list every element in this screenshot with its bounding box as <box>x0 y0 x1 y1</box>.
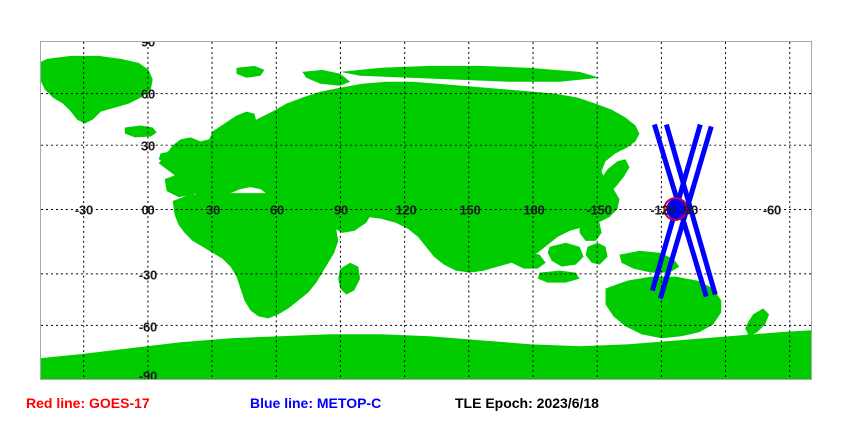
lon-label-m150: -150 <box>586 204 611 217</box>
map-plot-area: 90 60 30 0 -30 -60 -90 -30 0 30 60 90 12… <box>40 41 812 380</box>
lon-label-30: 30 <box>206 204 220 217</box>
legend-tle-epoch: TLE Epoch: 2023/6/18 <box>455 396 599 410</box>
lon-label-m30: -30 <box>75 204 93 217</box>
lon-label-m90: -90 <box>680 204 698 217</box>
lon-label-150: 150 <box>459 204 480 217</box>
lat-label-90: 90 <box>141 41 155 49</box>
lat-label-m30: -30 <box>139 269 157 282</box>
lat-label-m90: -90 <box>139 370 157 381</box>
lon-label-120: 120 <box>395 204 416 217</box>
lat-label-60: 60 <box>141 88 155 101</box>
lon-label-180: 180 <box>523 204 544 217</box>
lon-label-m120: -120 <box>650 204 675 217</box>
satellite-track-map-page: 90 60 30 0 -30 -60 -90 -30 0 30 60 90 12… <box>0 0 850 425</box>
lon-label-0: 0 <box>147 204 154 217</box>
lat-label-m60: -60 <box>139 321 157 334</box>
lon-label-m60: -60 <box>763 204 781 217</box>
lat-label-30: 30 <box>141 140 155 153</box>
lon-label-60: 60 <box>270 204 284 217</box>
legend-red-line-goes17: Red line: GOES-17 <box>26 396 150 410</box>
lon-label-90: 90 <box>334 204 348 217</box>
legend-blue-line-metopc: Blue line: METOP-C <box>250 396 381 410</box>
legend-caption-row: Red line: GOES-17 Blue line: METOP-C TLE… <box>0 396 850 420</box>
